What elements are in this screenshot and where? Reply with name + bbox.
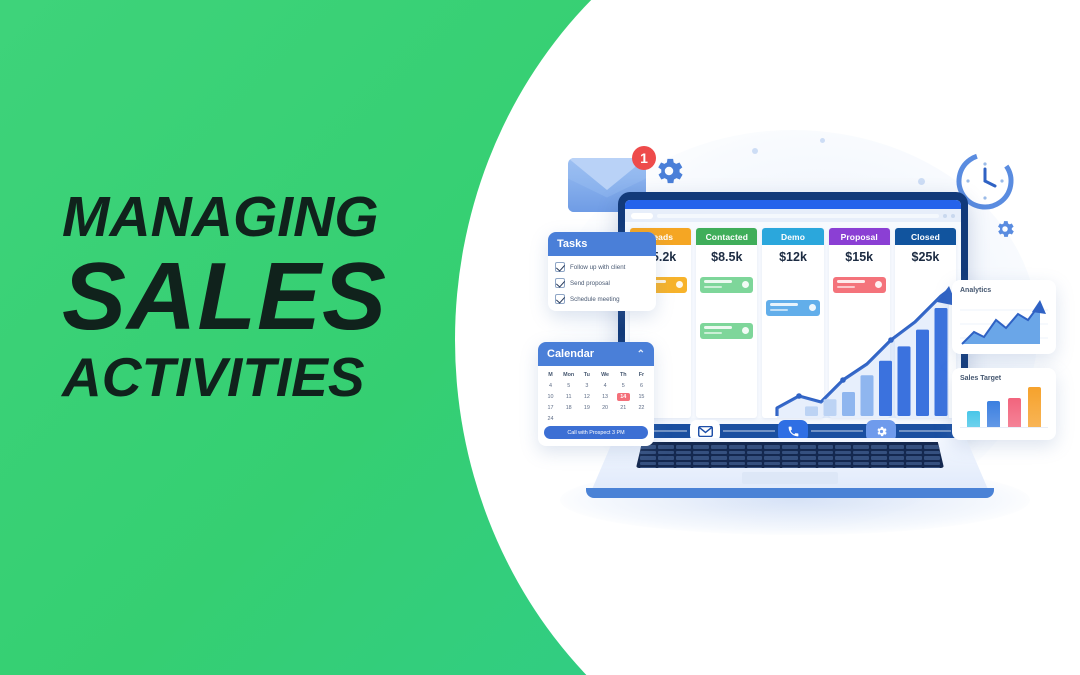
- keyboard-key: [853, 456, 869, 460]
- browser-toolbar: [625, 209, 961, 222]
- calendar-panel-title: Calendar: [547, 348, 594, 360]
- calendar-day-header: Fr: [635, 371, 648, 379]
- keyboard-key: [924, 456, 940, 460]
- keyboard-key: [729, 456, 745, 460]
- keyboard-key: [729, 462, 745, 466]
- connector-line: [723, 430, 775, 432]
- keyboard-key: [711, 445, 727, 449]
- keyboard-key: [729, 451, 745, 455]
- connector-line: [811, 430, 863, 432]
- keyboard-key: [782, 445, 798, 449]
- keyboard-key: [871, 456, 887, 460]
- sales-target-bar: [1008, 398, 1021, 427]
- keyboard-key: [800, 451, 816, 455]
- pipeline-card[interactable]: [700, 323, 753, 339]
- keyboard-key: [800, 467, 816, 468]
- keyboard-key: [711, 451, 727, 455]
- sparkle-dot: [820, 138, 825, 143]
- keyboard-key: [818, 445, 834, 449]
- keyboard-key: [889, 456, 905, 460]
- keyboard-key: [871, 467, 887, 468]
- keyboard-key: [800, 445, 816, 449]
- calendar-event-button[interactable]: Call with Prospect 3 PM: [544, 426, 648, 439]
- headline-line-2: SALES: [62, 251, 462, 343]
- calendar-day-header: We: [599, 371, 612, 379]
- keyboard-key: [658, 451, 674, 455]
- keyboard-key: [906, 451, 922, 455]
- browser-tab[interactable]: [631, 213, 653, 219]
- keyboard-key: [853, 467, 869, 468]
- keyboard-key: [658, 462, 674, 466]
- sparkle-dot: [918, 178, 925, 185]
- pipeline-column-contacted[interactable]: Contacted$8.5k: [696, 228, 757, 418]
- keyboard-key: [818, 451, 834, 455]
- keyboard-key: [764, 451, 780, 455]
- keyboard-key: [853, 451, 869, 455]
- keyboard-key: [853, 445, 869, 449]
- calendar-day[interactable]: 22: [635, 404, 648, 412]
- calendar-day[interactable]: 24: [544, 415, 557, 423]
- keyboard-key: [924, 445, 940, 449]
- keyboard-key: [693, 456, 709, 460]
- pipeline-column-proposal[interactable]: Proposal$15k: [829, 228, 890, 418]
- keyboard-key: [676, 456, 692, 460]
- calendar-panel: Calendar ⌃ MMonTuWeThFr45345610111213141…: [538, 342, 654, 446]
- calendar-day[interactable]: 11: [562, 393, 575, 401]
- pipeline-column-amount: $15k: [829, 245, 890, 269]
- keyboard-key: [764, 456, 780, 460]
- pipeline-column-amount: $25k: [895, 245, 956, 269]
- calendar-day[interactable]: 15: [635, 393, 648, 401]
- keyboard-key: [889, 467, 905, 468]
- keyboard-key: [924, 451, 940, 455]
- pipeline-card[interactable]: [833, 277, 886, 293]
- keyboard-key: [676, 451, 692, 455]
- laptop-base-lip: [586, 488, 994, 498]
- tasks-list: Follow up with clientSend proposalSchedu…: [548, 256, 656, 311]
- calendar-day[interactable]: 4: [599, 382, 612, 390]
- calendar-panel-header: Calendar ⌃: [538, 342, 654, 366]
- keyboard-key: [693, 467, 709, 468]
- keyboard-key: [747, 451, 763, 455]
- pipeline-card[interactable]: [700, 277, 753, 293]
- keyboard-key: [835, 451, 851, 455]
- pipeline-columns: Leads$5.2kContacted$8.5kDemo$12kProposal…: [625, 222, 961, 418]
- calendar-day[interactable]: 19: [580, 404, 593, 412]
- analytics-area-chart: [960, 298, 1048, 346]
- calendar-day[interactable]: 6: [635, 382, 648, 390]
- keyboard-key: [889, 445, 905, 449]
- keyboard-key: [729, 445, 745, 449]
- keyboard-key: [924, 462, 940, 466]
- app-top-bar: [625, 200, 961, 209]
- keyboard-key: [906, 456, 922, 460]
- keyboard-key: [818, 456, 834, 460]
- keyboard-key: [835, 462, 851, 466]
- keyboard-key: [747, 456, 763, 460]
- pipeline-column-label: Closed: [895, 228, 956, 245]
- keyboard-key: [800, 462, 816, 466]
- keyboard-key: [906, 467, 922, 468]
- sales-target-widget: Sales Target: [952, 368, 1056, 440]
- calendar-day[interactable]: 21: [617, 404, 630, 412]
- keyboard-key: [676, 467, 692, 468]
- keyboard-key: [906, 462, 922, 466]
- keyboard-key: [924, 467, 940, 468]
- calendar-day[interactable]: 13: [599, 393, 612, 401]
- calendar-day-header: M: [544, 371, 557, 379]
- task-label: Follow up with client: [570, 264, 625, 271]
- pipeline-column-amount: $12k: [762, 245, 823, 269]
- sales-target-bar: [967, 411, 980, 427]
- keyboard-key: [782, 462, 798, 466]
- headline-line-1: MANAGING: [62, 190, 462, 245]
- pipeline-column-label: Contacted: [696, 228, 757, 245]
- keyboard-key: [747, 445, 763, 449]
- keyboard-key: [764, 445, 780, 449]
- calendar-day: [599, 415, 612, 423]
- calendar-day: [580, 415, 593, 423]
- pipeline-column-label: Proposal: [829, 228, 890, 245]
- pipeline-column-amount: $8.5k: [696, 245, 757, 269]
- calendar-week-row: 171819202122: [544, 404, 648, 412]
- keyboard-key: [640, 456, 656, 460]
- sales-target-bar: [1028, 387, 1041, 427]
- keyboard-row: [640, 445, 940, 449]
- keyboard-row: [640, 467, 940, 468]
- calendar-day: [635, 415, 648, 423]
- page-title: MANAGING SALES ACTIVITIES: [62, 190, 462, 404]
- calendar-day[interactable]: 18: [562, 404, 575, 412]
- pipeline-column-demo[interactable]: Demo$12k: [762, 228, 823, 418]
- crm-illustration: 1: [520, 120, 1060, 550]
- crm-app-screen: Leads$5.2kContacted$8.5kDemo$12kProposal…: [625, 200, 961, 425]
- calendar-week-row: 101112131415: [544, 393, 648, 401]
- task-label: Send proposal: [570, 280, 610, 287]
- pipeline-card-list: [895, 269, 956, 418]
- keyboard-key: [889, 451, 905, 455]
- keyboard-row: [640, 451, 940, 455]
- keyboard-key: [800, 456, 816, 460]
- keyboard-key: [676, 445, 692, 449]
- keyboard-row: [640, 456, 940, 460]
- calendar-grid: MMonTuWeThFr4534561011121314151718192021…: [538, 366, 654, 446]
- sales-target-bar: [987, 401, 1000, 427]
- calendar-week-row: 453456: [544, 382, 648, 390]
- keyboard-key: [747, 467, 763, 468]
- keyboard-key: [729, 467, 745, 468]
- keyboard-key: [764, 462, 780, 466]
- keyboard-key: [782, 456, 798, 460]
- laptop-keyboard[interactable]: [636, 442, 944, 468]
- calendar-header-row: MMonTuWeThFr: [544, 371, 648, 379]
- checkbox-checked-icon[interactable]: [555, 262, 565, 272]
- keyboard-key: [693, 445, 709, 449]
- calendar-day[interactable]: 17: [544, 404, 557, 412]
- keyboard-key: [871, 462, 887, 466]
- keyboard-key: [782, 451, 798, 455]
- poster-canvas: MANAGING SALES ACTIVITIES 1: [0, 0, 1080, 675]
- pipeline-card-list: [696, 269, 757, 418]
- task-item[interactable]: Follow up with client: [555, 262, 649, 272]
- analytics-widget: Analytics: [952, 280, 1056, 354]
- keyboard-key: [871, 451, 887, 455]
- keyboard-key: [711, 467, 727, 468]
- checkbox-checked-icon[interactable]: [555, 294, 565, 304]
- calendar-day-header: Mon: [562, 371, 575, 379]
- pipeline-card-list: [829, 269, 890, 418]
- sales-target-bars: [960, 386, 1048, 428]
- calendar-day[interactable]: 20: [599, 404, 612, 412]
- keyboard-key: [782, 467, 798, 468]
- calendar-day[interactable]: 3: [580, 382, 593, 390]
- pipeline-card-list: [762, 269, 823, 418]
- calendar-day[interactable]: 10: [544, 393, 557, 401]
- calendar-week-row: 24: [544, 415, 648, 423]
- calendar-day[interactable]: 5: [617, 382, 630, 390]
- sparkle-dot: [752, 148, 758, 154]
- headline-line-3: ACTIVITIES: [62, 351, 462, 404]
- pipeline-board: Leads$5.2kContacted$8.5kDemo$12kProposal…: [625, 222, 961, 418]
- keyboard-key: [711, 456, 727, 460]
- keyboard-key: [747, 462, 763, 466]
- sales-target-widget-title: Sales Target: [960, 375, 1048, 382]
- keyboard-key: [693, 462, 709, 466]
- tasks-panel-header: Tasks: [548, 232, 656, 256]
- toolbar-dot-icon: [951, 214, 955, 218]
- task-item[interactable]: Schedule meeting: [555, 294, 649, 304]
- calendar-day-header: Th: [617, 371, 630, 379]
- toolbar-dot-icon: [943, 214, 947, 218]
- calendar-day-header: Tu: [580, 371, 593, 379]
- keyboard-key: [658, 456, 674, 460]
- analytics-widget-title: Analytics: [960, 287, 1048, 294]
- keyboard-key: [835, 467, 851, 468]
- keyboard-key: [871, 445, 887, 449]
- laptop-screen-lid: Leads$5.2kContacted$8.5kDemo$12kProposal…: [618, 192, 968, 432]
- keyboard-key: [818, 467, 834, 468]
- calendar-day[interactable]: 12: [580, 393, 593, 401]
- calendar-day[interactable]: 5: [562, 382, 575, 390]
- calendar-day: [562, 415, 575, 423]
- connector-line: [899, 430, 951, 432]
- keyboard-key: [640, 451, 656, 455]
- tasks-panel: Tasks Follow up with clientSend proposal…: [548, 232, 656, 311]
- keyboard-key: [853, 462, 869, 466]
- keyboard-key: [835, 456, 851, 460]
- keyboard-key: [640, 462, 656, 466]
- keyboard-key: [640, 467, 656, 468]
- pipeline-card[interactable]: [766, 300, 819, 316]
- pipeline-column-closed[interactable]: Closed$25k: [895, 228, 956, 418]
- address-bar[interactable]: [657, 214, 939, 218]
- keyboard-key: [835, 445, 851, 449]
- keyboard-row: [640, 462, 940, 466]
- keyboard-key: [711, 462, 727, 466]
- laptop-trackpad[interactable]: [742, 472, 838, 484]
- calendar-day: [617, 415, 630, 423]
- checkbox-checked-icon[interactable]: [555, 278, 565, 288]
- keyboard-key: [658, 467, 674, 468]
- keyboard-key: [693, 451, 709, 455]
- task-item[interactable]: Send proposal: [555, 278, 649, 288]
- keyboard-key: [906, 445, 922, 449]
- keyboard-key: [818, 462, 834, 466]
- gear-icon: [652, 154, 686, 188]
- gear-icon-small: [994, 218, 1016, 240]
- keyboard-key: [889, 462, 905, 466]
- more-icon[interactable]: ⌃: [637, 349, 645, 360]
- calendar-day-today[interactable]: 14: [617, 393, 630, 401]
- tasks-panel-title: Tasks: [557, 238, 587, 250]
- keyboard-key: [676, 462, 692, 466]
- calendar-day[interactable]: 4: [544, 382, 557, 390]
- keyboard-key: [764, 467, 780, 468]
- pipeline-column-label: Demo: [762, 228, 823, 245]
- keyboard-key: [658, 445, 674, 449]
- task-label: Schedule meeting: [570, 296, 620, 303]
